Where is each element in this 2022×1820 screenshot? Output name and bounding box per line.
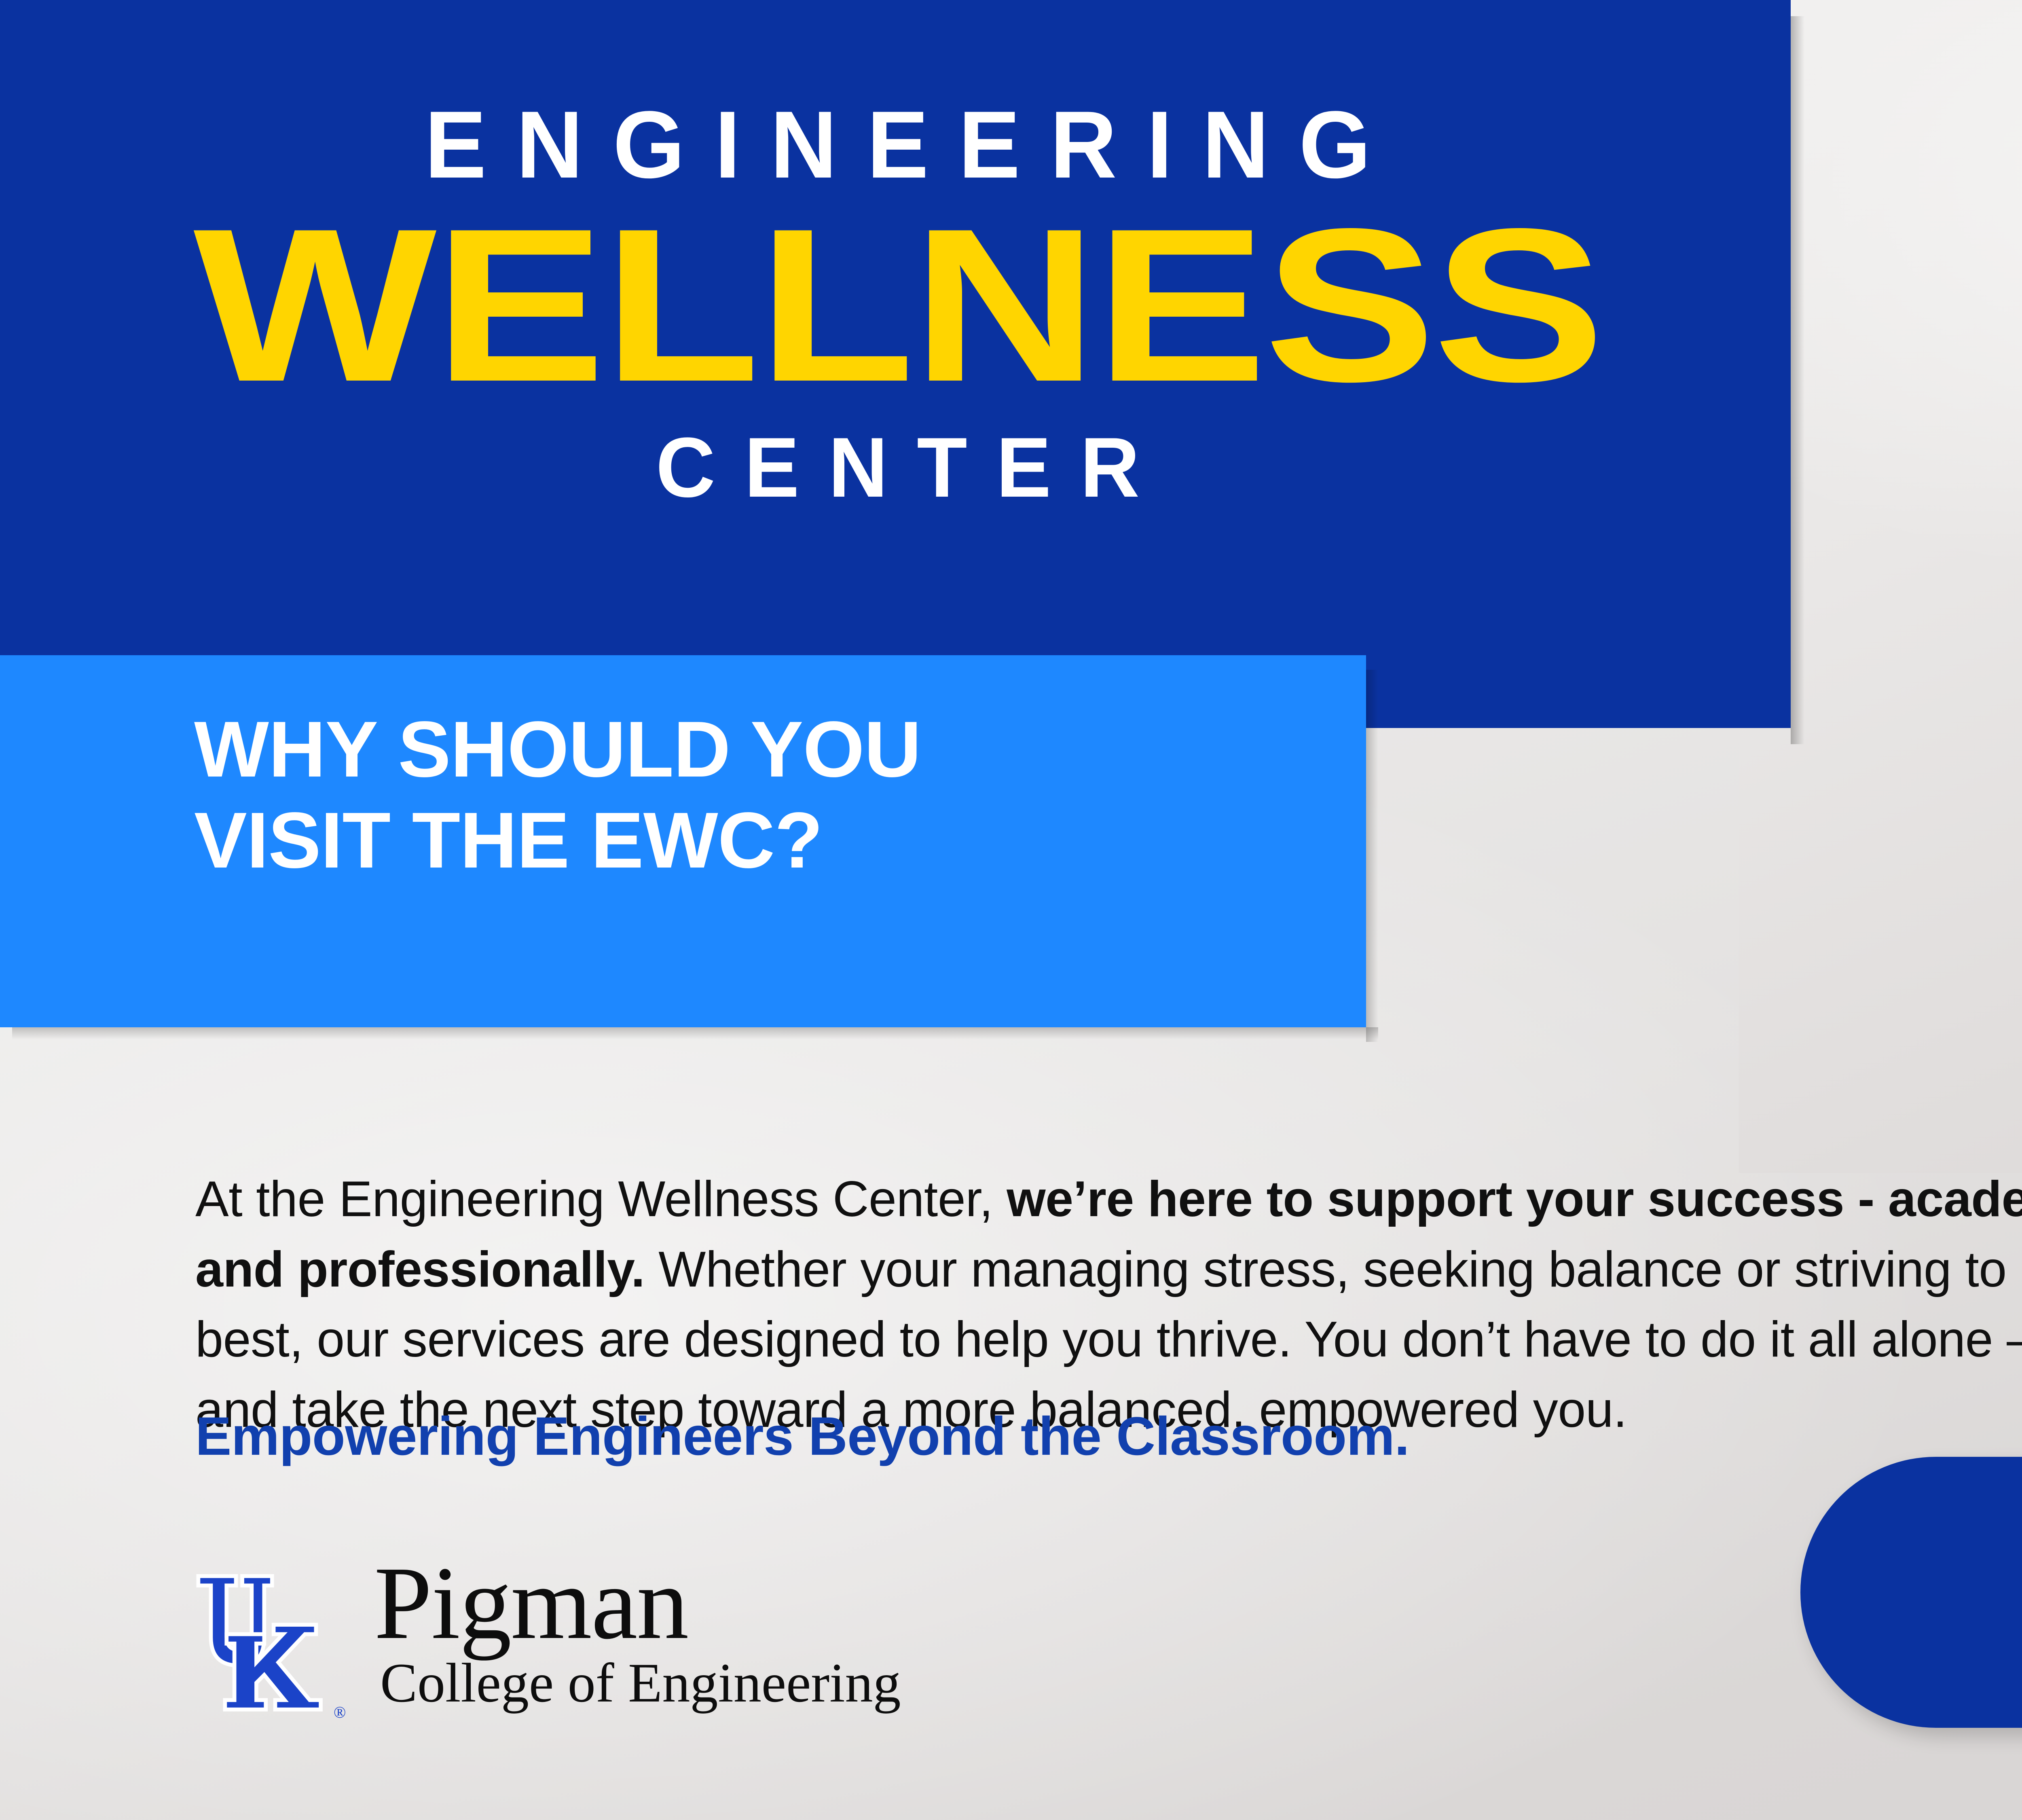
header-block-light-shadow-right <box>1366 670 1378 1042</box>
poster-canvas: You have something unique and valuable t… <box>0 0 2022 1820</box>
subheadline-line-2: VISIT THE EWC? <box>194 795 1326 886</box>
logo-name-pigman: Pigman <box>374 1551 688 1655</box>
uk-pigman-logo: ® Pigman College of Engineering <box>190 1569 967 1715</box>
tagline: Empowering Engineers Beyond the Classroo… <box>195 1405 1409 1467</box>
body-paragraph: At the Engineering Wellness Center, we’r… <box>195 1164 2022 1445</box>
brand-line-center: CENTER <box>199 425 1596 510</box>
body-part-1: At the Engineering Wellness Center, <box>195 1171 1007 1227</box>
uk-wildcat-logo-icon <box>190 1562 348 1719</box>
header-block-dark-shadow <box>1791 16 1804 744</box>
logo-subtitle-college: College of Engineering <box>380 1655 901 1711</box>
subheadline-line-1: WHY SHOULD YOU <box>194 704 1326 795</box>
brand-lockup: ENGINEERING WELLNESS CENTER <box>178 97 1618 510</box>
hours-location-panel: HOURS & LOCATION: Various times availabl… <box>1800 1457 2022 1728</box>
subheadline: WHY SHOULD YOU VISIT THE EWC? <box>194 704 1326 886</box>
brand-line-wellness: WELLNESS <box>49 201 1747 409</box>
registered-trademark-icon: ® <box>334 1703 346 1722</box>
header-block-light-shadow-bottom <box>12 1027 1378 1039</box>
brand-line-engineering: ENGINEERING <box>199 97 1596 193</box>
